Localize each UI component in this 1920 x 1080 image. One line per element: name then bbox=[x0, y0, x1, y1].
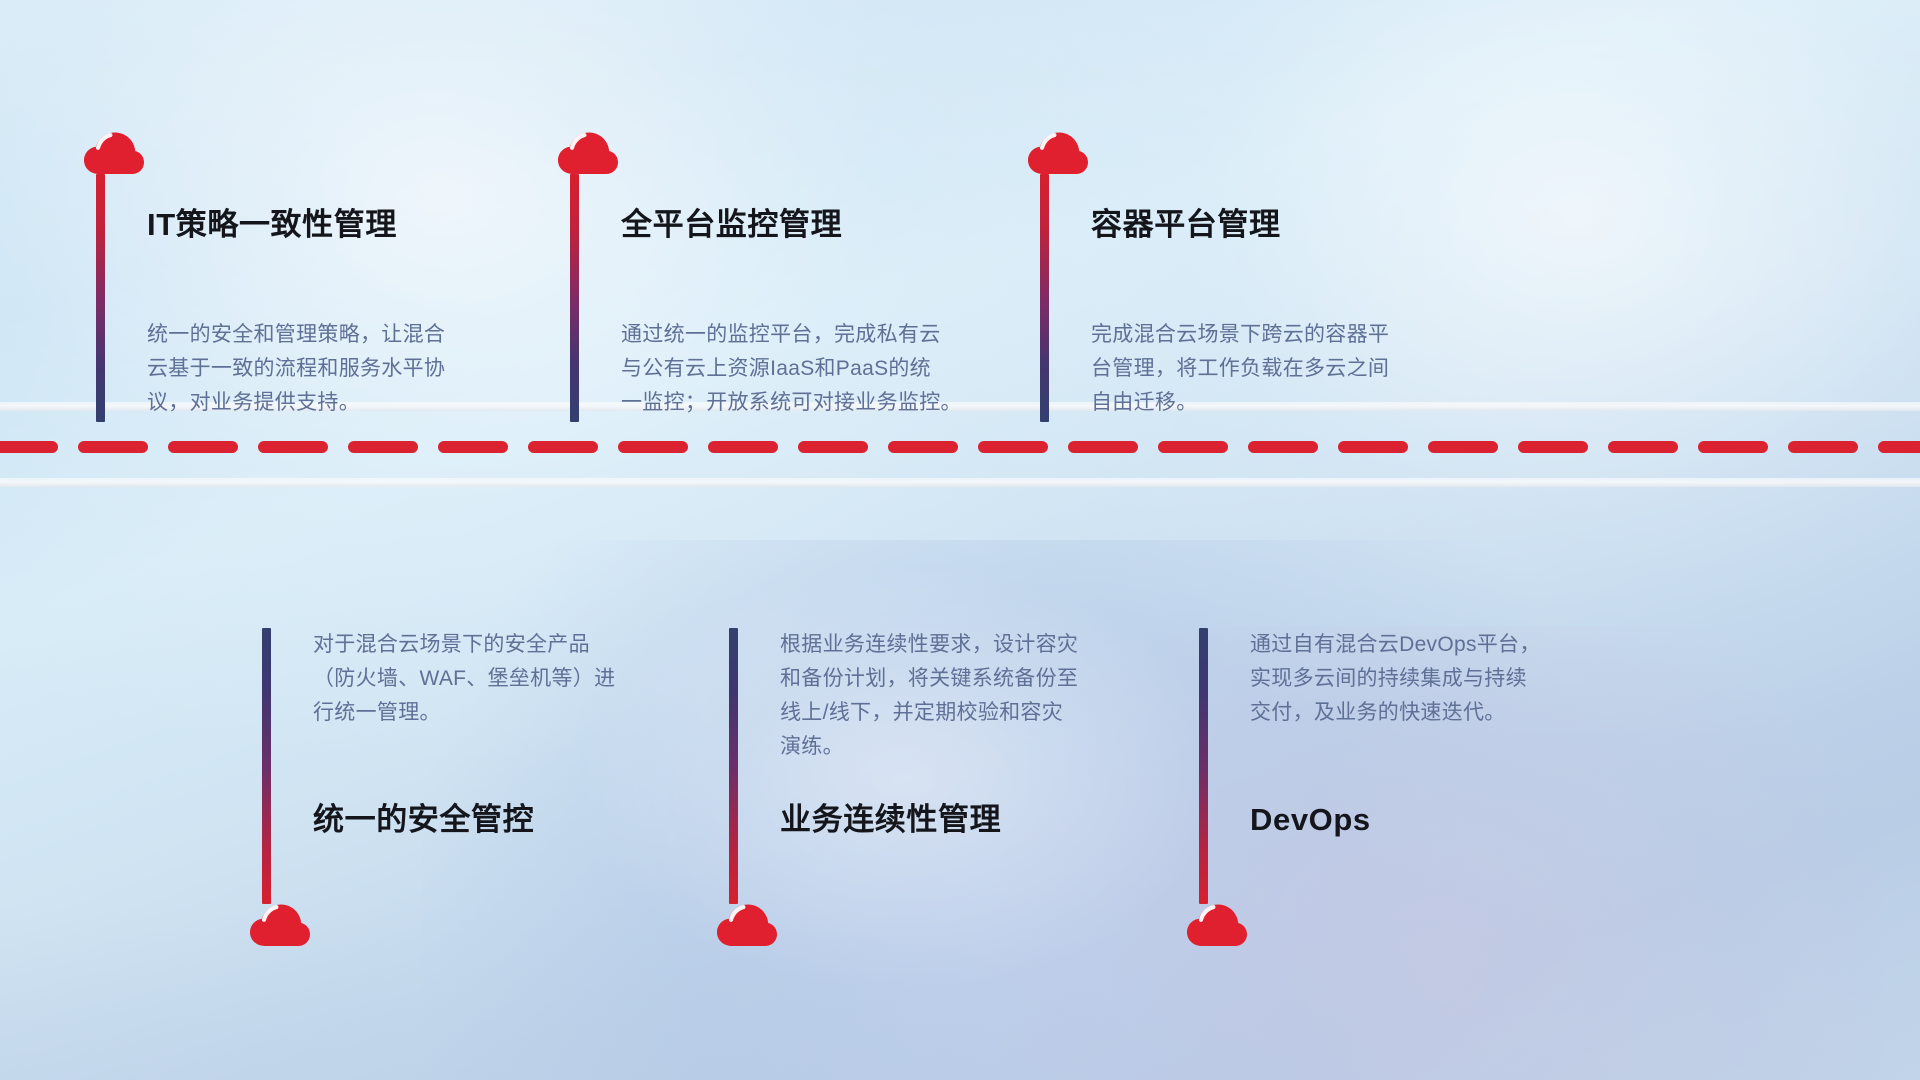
connector-stem bbox=[96, 174, 105, 422]
connector-stem bbox=[570, 174, 579, 422]
body-line: 一监控；开放系统可对接业务监控。 bbox=[621, 386, 1011, 420]
body-line: 和备份计划，将关键系统备份至 bbox=[780, 662, 1150, 696]
node-heading: 容器平台管理 bbox=[1091, 208, 1471, 242]
connector-stem bbox=[262, 628, 271, 904]
node-it-policy-consistency[interactable]: IT策略一致性管理 统一的安全和管理策略，让混合 云基于一致的流程和服务水平协 … bbox=[82, 130, 507, 422]
body-line: 通过统一的监控平台，完成私有云 bbox=[621, 318, 1011, 352]
road-edge-bottom bbox=[0, 478, 1920, 487]
body-line: 完成混合云场景下跨云的容器平 bbox=[1091, 318, 1471, 352]
connector-stem bbox=[1040, 174, 1049, 422]
body-line: 通过自有混合云DevOps平台， bbox=[1250, 628, 1630, 662]
body-line: 行统一管理。 bbox=[313, 696, 673, 730]
node-heading: IT策略一致性管理 bbox=[147, 208, 507, 242]
node-container-platform-management[interactable]: 容器平台管理 完成混合云场景下跨云的容器平 台管理，将工作负载在多云之间 自由迁… bbox=[1026, 130, 1471, 422]
node-body: 对于混合云场景下的安全产品 （防火墙、WAF、堡垒机等）进 行统一管理。 bbox=[313, 628, 673, 730]
body-line: 云基于一致的流程和服务水平协 bbox=[147, 352, 507, 386]
node-heading: 全平台监控管理 bbox=[621, 208, 1011, 242]
node-full-platform-monitoring[interactable]: 全平台监控管理 通过统一的监控平台，完成私有云 与公有云上资源IaaS和PaaS… bbox=[556, 130, 1011, 422]
body-line: 根据业务连续性要求，设计容灾 bbox=[780, 628, 1150, 662]
connector-stem bbox=[729, 628, 738, 904]
cloud-icon bbox=[1026, 130, 1090, 176]
node-heading: 统一的安全管控 bbox=[313, 803, 673, 837]
cloud-icon bbox=[556, 130, 620, 176]
body-line: 统一的安全和管理策略，让混合 bbox=[147, 318, 507, 352]
cloud-icon bbox=[248, 902, 312, 948]
road-center-dashes bbox=[0, 441, 1920, 453]
node-unified-security-governance[interactable]: 对于混合云场景下的安全产品 （防火墙、WAF、堡垒机等）进 行统一管理。 统一的… bbox=[248, 628, 673, 948]
node-body: 统一的安全和管理策略，让混合 云基于一致的流程和服务水平协 议，对业务提供支持。 bbox=[147, 318, 507, 420]
body-line: 议，对业务提供支持。 bbox=[147, 386, 507, 420]
body-line: 与公有云上资源IaaS和PaaS的统 bbox=[621, 352, 1011, 386]
node-body: 根据业务连续性要求，设计容灾 和备份计划，将关键系统备份至 线上/线下，并定期校… bbox=[780, 628, 1150, 764]
body-line: 实现多云间的持续集成与持续 bbox=[1250, 662, 1630, 696]
node-heading: DevOps bbox=[1250, 803, 1630, 837]
body-line: 对于混合云场景下的安全产品 bbox=[313, 628, 673, 662]
cloud-icon bbox=[715, 902, 779, 948]
cloud-icon bbox=[1185, 902, 1249, 948]
node-body: 通过自有混合云DevOps平台， 实现多云间的持续集成与持续 交付，及业务的快速… bbox=[1250, 628, 1630, 730]
node-body: 通过统一的监控平台，完成私有云 与公有云上资源IaaS和PaaS的统 一监控；开… bbox=[621, 318, 1011, 420]
node-devops[interactable]: 通过自有混合云DevOps平台， 实现多云间的持续集成与持续 交付，及业务的快速… bbox=[1185, 628, 1630, 948]
node-business-continuity-management[interactable]: 根据业务连续性要求，设计容灾 和备份计划，将关键系统备份至 线上/线下，并定期校… bbox=[715, 628, 1150, 948]
body-line: 交付，及业务的快速迭代。 bbox=[1250, 696, 1630, 730]
connector-stem bbox=[1199, 628, 1208, 904]
infographic-stage: IT策略一致性管理 统一的安全和管理策略，让混合 云基于一致的流程和服务水平协 … bbox=[0, 0, 1920, 1080]
node-body: 完成混合云场景下跨云的容器平 台管理，将工作负载在多云之间 自由迁移。 bbox=[1091, 318, 1471, 420]
cloud-icon bbox=[82, 130, 146, 176]
body-line: （防火墙、WAF、堡垒机等）进 bbox=[313, 662, 673, 696]
body-line: 线上/线下，并定期校验和容灾 bbox=[780, 696, 1150, 730]
body-line: 自由迁移。 bbox=[1091, 386, 1471, 420]
body-line: 演练。 bbox=[780, 730, 1150, 764]
node-heading: 业务连续性管理 bbox=[780, 803, 1150, 837]
body-line: 台管理，将工作负载在多云之间 bbox=[1091, 352, 1471, 386]
